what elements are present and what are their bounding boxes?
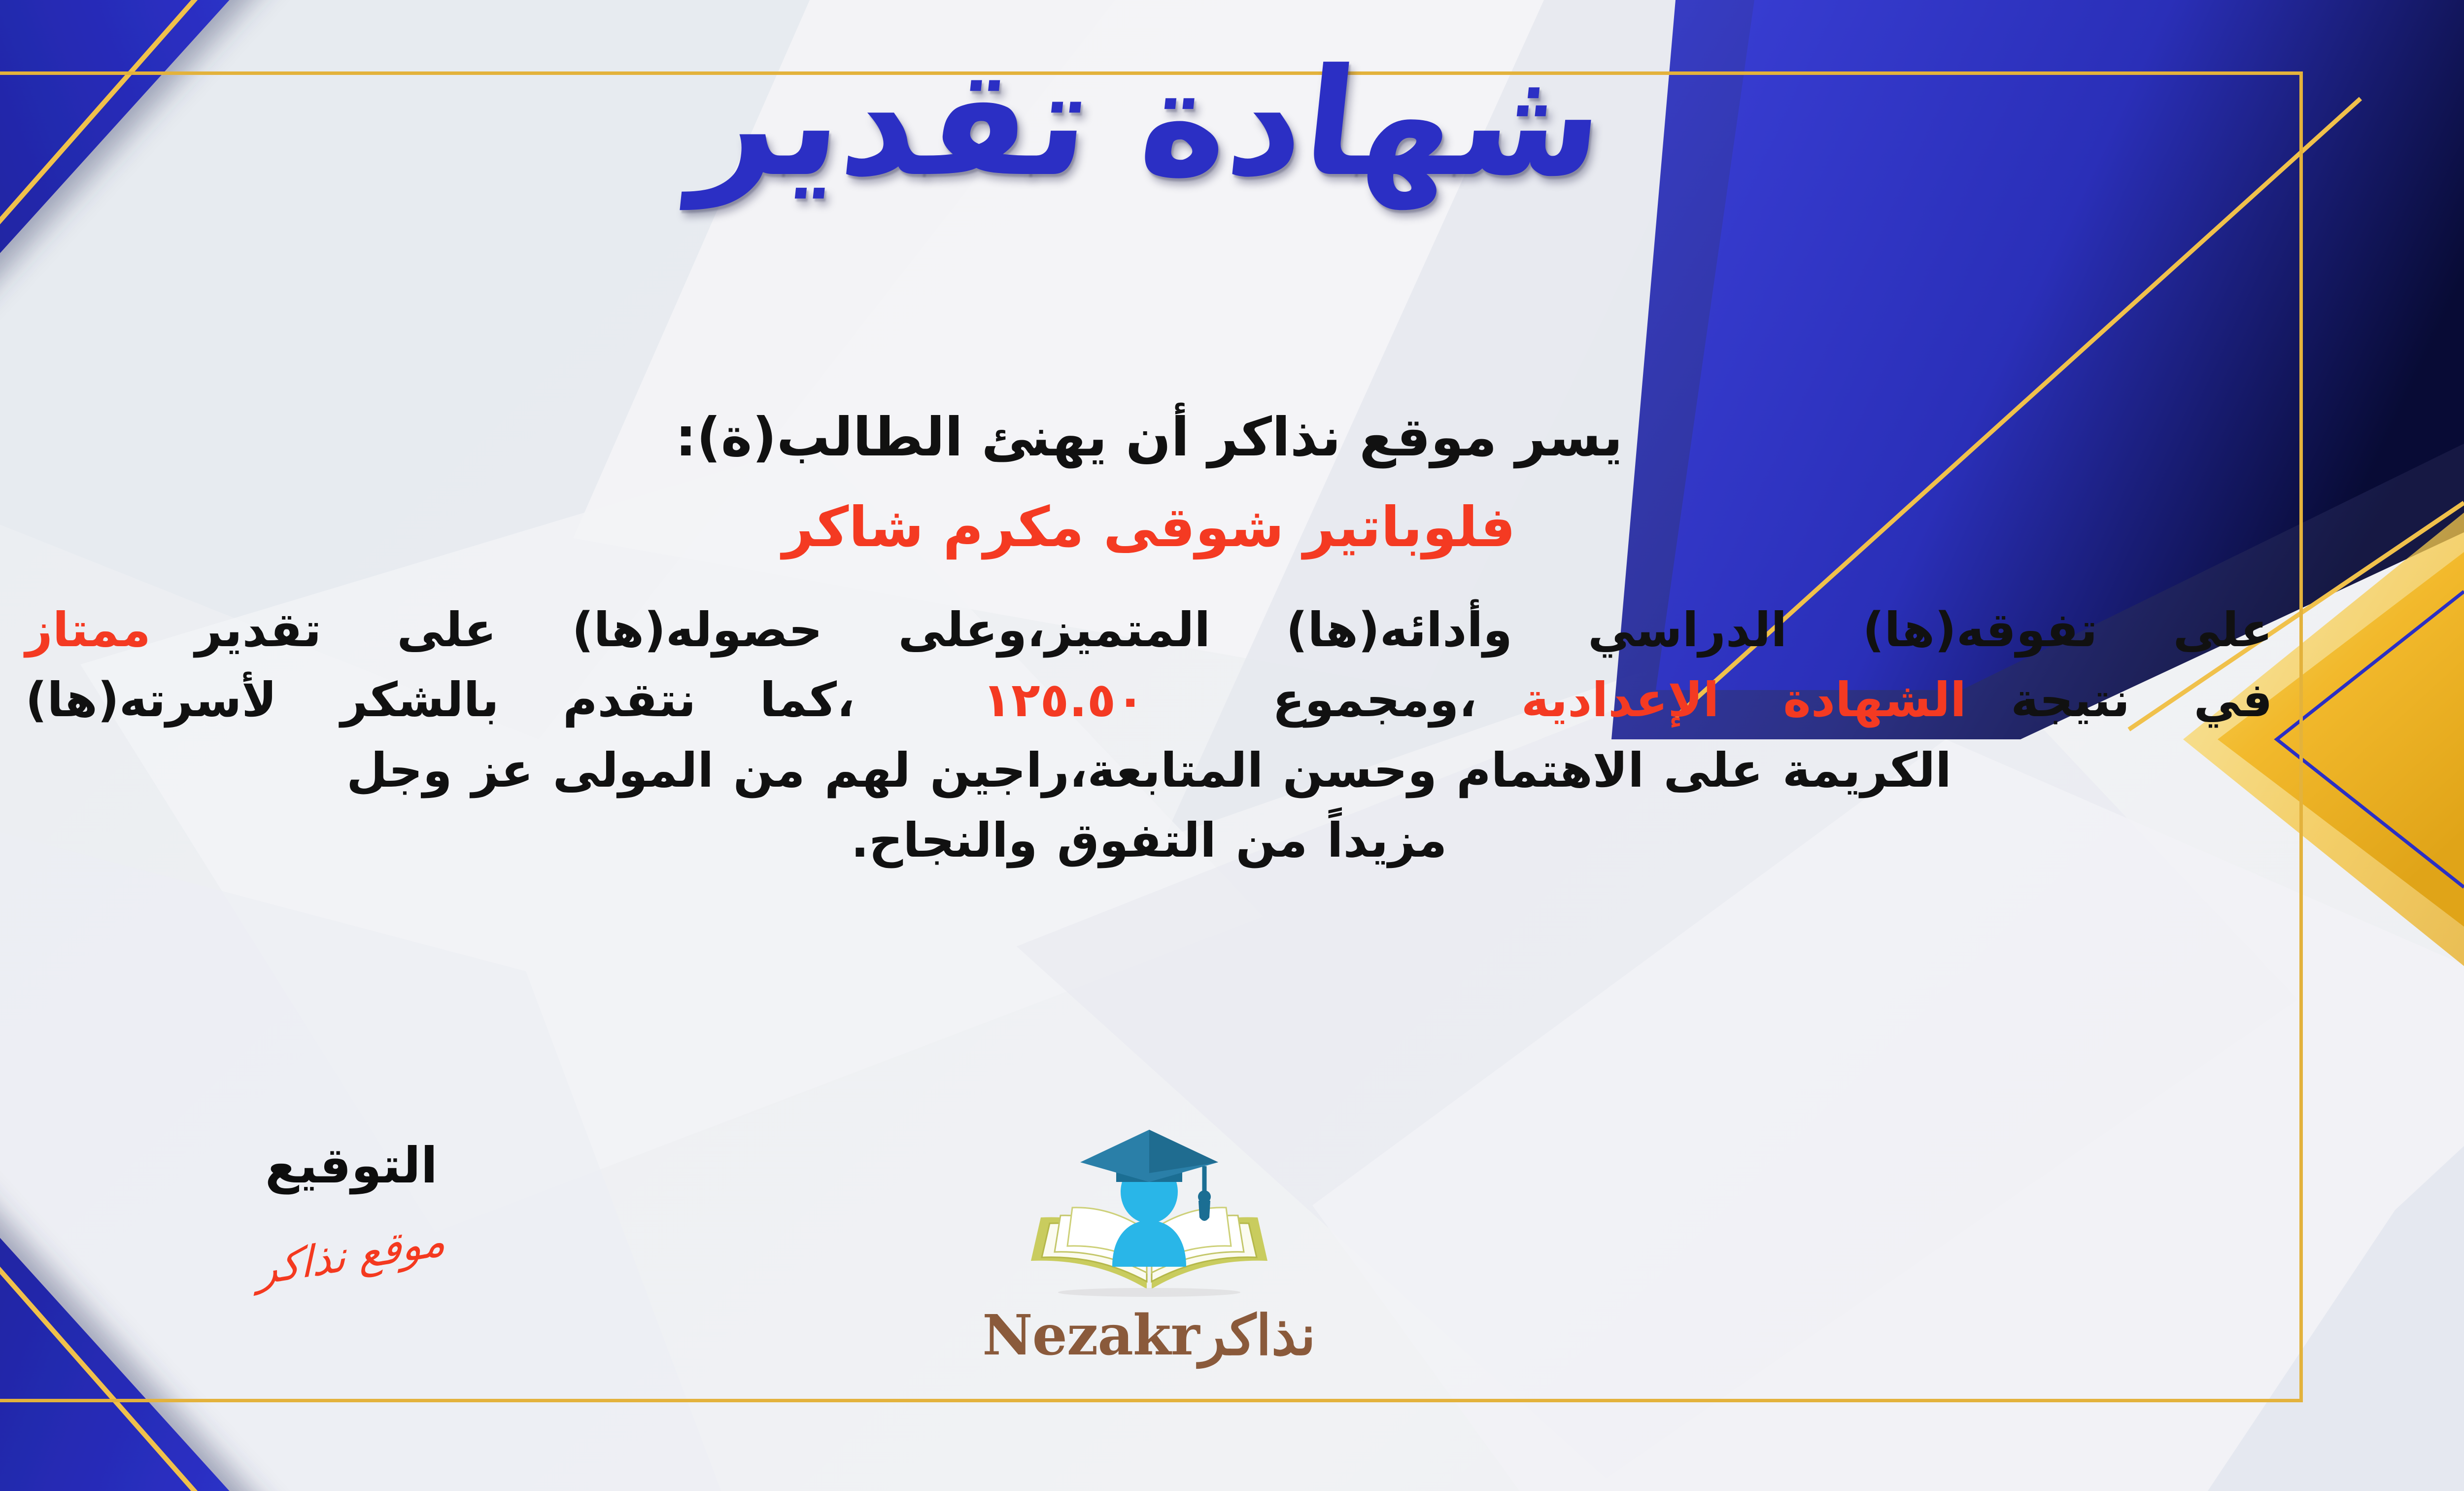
graduation-book-logo-icon — [1011, 1119, 1287, 1306]
body-line-2: في نتيجةالشهادة الإعدادية،ومجموع ١٢٥.٥٠ … — [26, 665, 2273, 735]
certificate-canvas: شهادة تقدير يسر موقع نذاكر أن يهنئ الطال… — [0, 0, 2464, 1491]
certificate-body: يسر موقع نذاكر أن يهنئ الطالب(ة): فلوبات… — [0, 404, 2301, 875]
body-line-1: على تفوقه(ها) الدراسي وأدائه(ها) المتميز… — [26, 595, 2273, 665]
logo-wordmark-latin: Nezakr — [982, 1303, 1199, 1368]
logo-wordmark-arabic: نذاكر — [1199, 1303, 1316, 1368]
certificate-title: شهادة تقدير — [0, 49, 2464, 197]
total-score: ١٢٥.٥٠ — [982, 672, 1144, 728]
signature-area: التوقيع موقع نذاكر — [179, 1139, 524, 1279]
body-line-2-prefix: في نتيجة — [2011, 672, 2272, 728]
signature-label: التوقيع — [179, 1139, 524, 1193]
grade-value: ممتاز — [26, 602, 151, 658]
brand-logo: Nezakrنذاكر — [927, 1119, 1371, 1368]
student-name: فلوباتير شوقى مكرم شاكر — [0, 494, 2301, 560]
body-line-2-mid: ،ومجموع — [1272, 672, 1477, 728]
body-line-1-text: على تفوقه(ها) الدراسي وأدائه(ها) المتميز… — [195, 602, 2273, 658]
exam-name: الشهادة الإعدادية — [1521, 672, 1966, 728]
body-line-3: الكريمة على الاهتمام وحسن المتابعة،راجين… — [26, 735, 2273, 805]
body-line-2-suffix: ،كما نتقدم بالشكر لأسرته(ها) — [26, 672, 855, 728]
body-line-4: مزيداً من التفوق والنجاح. — [26, 805, 2273, 875]
body-paragraph: على تفوقه(ها) الدراسي وأدائه(ها) المتميز… — [26, 595, 2273, 875]
intro-line: يسر موقع نذاكر أن يهنئ الطالب(ة): — [0, 404, 2301, 471]
logo-wordmark: Nezakrنذاكر — [927, 1303, 1371, 1368]
